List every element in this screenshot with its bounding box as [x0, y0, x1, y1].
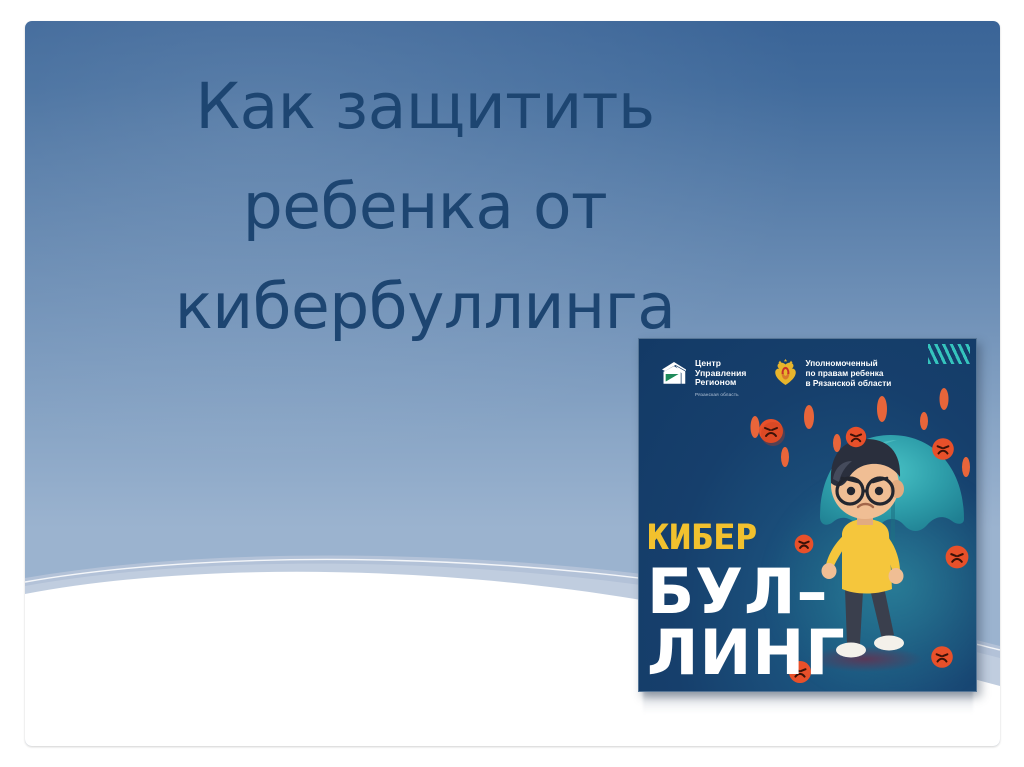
slide-title: Как защитить ребенка от кибербуллинга	[115, 57, 735, 357]
poster-word-ling: ЛИНГ	[647, 622, 846, 684]
title-line-2: ребенка от	[115, 157, 735, 257]
ombudsman-line-1: Уполномоченный	[805, 359, 877, 368]
cyberbullying-poster-image[interactable]: Центр Управления Регионом Рязанская обла…	[638, 338, 977, 692]
presentation-slide: Как защитить ребенка от кибербуллинга	[25, 21, 1000, 746]
poster-word-cyber: КИБЕР	[647, 521, 757, 556]
cur-logo-icon	[659, 359, 689, 389]
poster-word-bul: БУЛ–	[647, 561, 829, 623]
screenshot-root: Как защитить ребенка от кибербуллинга	[0, 0, 1024, 767]
corner-stripes-decoration	[928, 344, 970, 364]
cur-line-3: Регионом	[695, 377, 736, 387]
ombudsman-line-3: в Рязанской области	[805, 379, 891, 388]
poster-logo-row: Центр Управления Регионом Рязанская обла…	[659, 359, 891, 399]
cur-logo-text: Центр Управления Регионом Рязанская обла…	[695, 359, 746, 399]
cur-line-2: Управления	[695, 368, 746, 378]
cur-line-1: Центр	[695, 358, 721, 368]
ombudsman-logo: Уполномоченный по правам ребенка в Рязан…	[772, 359, 891, 389]
ombudsman-line-2: по правам ребенка	[805, 369, 883, 378]
cur-logo: Центр Управления Регионом Рязанская обла…	[659, 359, 746, 399]
russia-coat-of-arms-icon	[772, 359, 799, 389]
title-line-1: Как защитить	[115, 57, 735, 157]
ombudsman-logo-text: Уполномоченный по правам ребенка в Рязан…	[805, 359, 891, 389]
card-reflection	[643, 690, 973, 714]
cur-subtitle: Рязанская область	[695, 390, 746, 400]
